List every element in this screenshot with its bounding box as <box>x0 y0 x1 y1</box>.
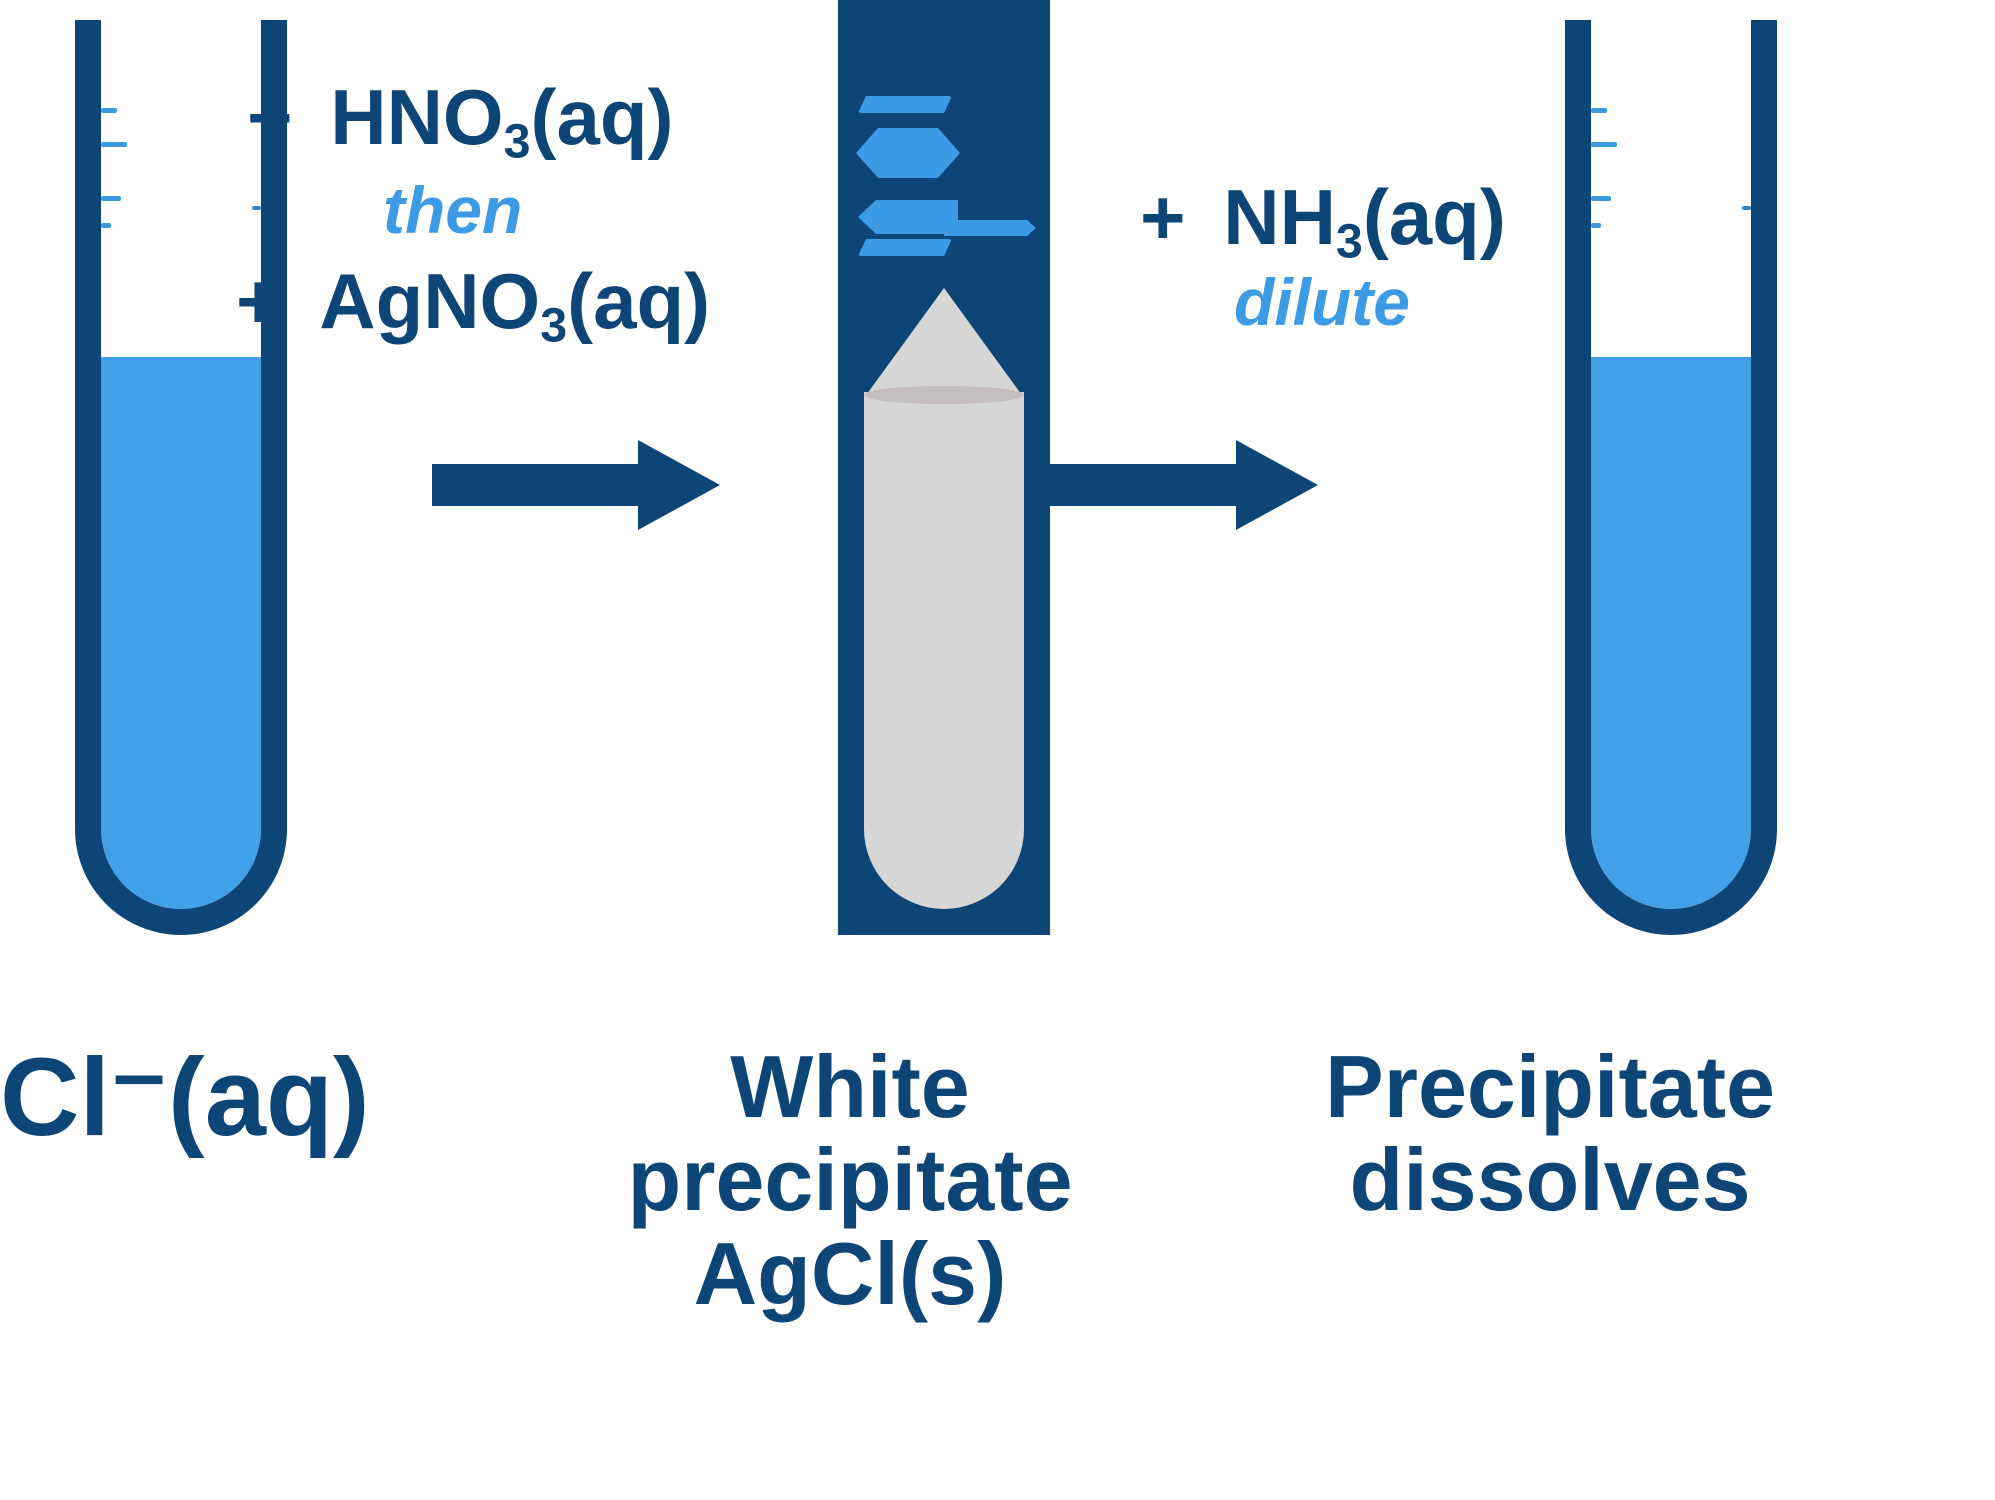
tube2-highlight-mark <box>856 128 960 178</box>
reagent-formula-3: NH <box>1223 173 1336 261</box>
reagent-subscript-2: 3 <box>540 299 567 353</box>
reagent-formula-1: HNO <box>330 73 503 161</box>
arrow-shaft <box>432 464 644 506</box>
reagent-state-2: (aq) <box>567 257 710 345</box>
graduation-tick <box>1742 206 1751 210</box>
reagent-state-1: (aq) <box>530 73 673 161</box>
tube2-precipitate-body <box>864 392 1024 909</box>
graduation-tick <box>1591 142 1617 147</box>
graduation-tick <box>101 142 127 147</box>
caption-dissolves: Precipitate dissolves <box>1105 1040 1995 1227</box>
plus-sign-2: + <box>236 257 282 345</box>
arrow-head <box>638 440 720 530</box>
reagent-line-3: + NH3(aq) <box>1140 178 1506 266</box>
tube2-precipitate-shadow <box>864 386 1024 404</box>
arrow-head <box>1236 440 1318 530</box>
tube2-highlight-mark <box>858 96 952 113</box>
reagent-subscript-3: 3 <box>1336 215 1363 269</box>
graduation-tick <box>101 196 121 201</box>
diagram-canvas: + HNO3(aq) then + AgNO3(aq) + NH3(aq) di… <box>0 0 1995 1500</box>
reagent-line-1: + HNO3(aq) <box>247 78 673 166</box>
arrow-right-icon-2 <box>1030 440 1318 530</box>
graduation-tick <box>101 108 117 113</box>
graduation-tick <box>101 223 111 228</box>
reagent-subscript-1: 3 <box>504 115 531 169</box>
tube2-highlight-mark <box>858 239 952 256</box>
caption-white-precipitate: White precipitate AgCl(s) <box>520 1040 1180 1320</box>
arrow-shaft <box>1030 464 1242 506</box>
tube2-highlight-mark <box>944 220 1036 236</box>
reagent-line-2: + AgNO3(aq) <box>236 262 710 350</box>
graduation-tick <box>1591 223 1601 228</box>
graduation-tick <box>252 206 261 210</box>
tube3-glass <box>1565 20 1777 935</box>
tube2-highlight-mark <box>858 200 958 234</box>
reagent-formula-2: AgNO <box>319 257 540 345</box>
tube2-precipitate-cone <box>864 288 1024 398</box>
caption-chloride: Cl⁻(aq) <box>0 1040 400 1157</box>
arrow-right-icon-1 <box>432 440 720 530</box>
connector-dilute: dilute <box>1234 264 1410 340</box>
graduation-tick <box>1591 196 1611 201</box>
connector-then: then <box>383 172 522 248</box>
plus-sign-1: + <box>247 73 293 161</box>
test-tube-dissolved <box>1565 20 1777 935</box>
reagent-state-3: (aq) <box>1363 173 1506 261</box>
graduation-tick <box>1591 108 1607 113</box>
plus-sign-3: + <box>1140 173 1186 261</box>
